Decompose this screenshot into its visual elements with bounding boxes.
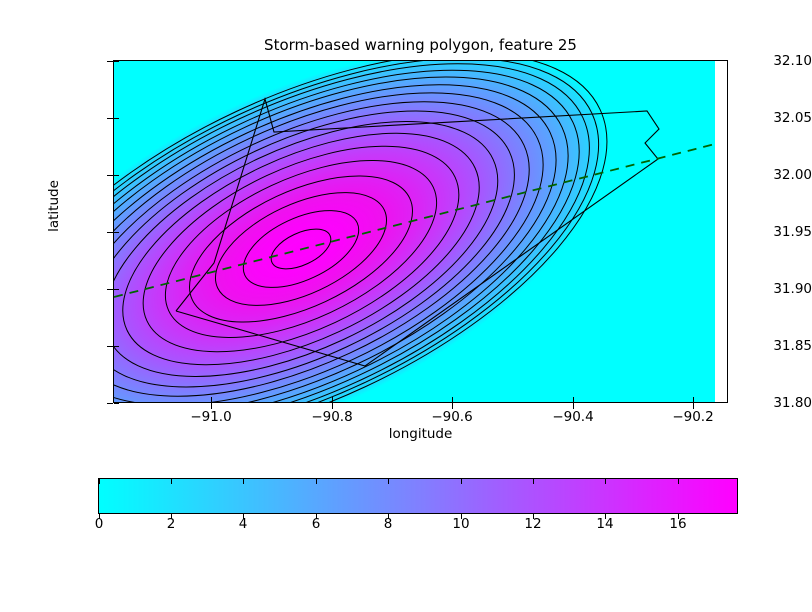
colorbar-tick-top <box>461 479 462 484</box>
colorbar-gradient <box>99 479 737 513</box>
ytick-mark-inner <box>114 403 119 404</box>
plot-content-group <box>114 61 728 403</box>
ytick-mark <box>107 403 113 404</box>
page-title: Storm-based warning polygon, feature 25 <box>113 36 728 54</box>
xtick-label: −91.0 <box>171 410 251 424</box>
colorbar <box>98 478 738 514</box>
ytick-label: 31.80 <box>746 396 812 410</box>
ytick-mark-inner <box>114 232 119 233</box>
colorbar-tick-top <box>678 479 679 484</box>
ytick-label: 31.95 <box>746 225 812 239</box>
colorbar-tick-label: 4 <box>218 516 268 532</box>
colorbar-tick-top <box>99 479 100 484</box>
ytick-mark-inner <box>114 61 119 62</box>
colorbar-tick-top <box>316 479 317 484</box>
ytick-mark <box>107 289 113 290</box>
colorbar-tick-label: 10 <box>436 516 486 532</box>
xtick-label: −90.6 <box>412 410 492 424</box>
colorbar-tick-label: 12 <box>508 516 558 532</box>
ytick-label: 32.10 <box>746 54 812 68</box>
xtick-mark-inner <box>693 397 694 402</box>
colorbar-tick-top <box>533 479 534 484</box>
ytick-label: 31.90 <box>746 282 812 296</box>
colorbar-tick-label: 8 <box>363 516 413 532</box>
ytick-mark-inner <box>114 346 119 347</box>
ytick-mark <box>107 61 113 62</box>
xtick-label: −90.8 <box>292 410 372 424</box>
colorbar-tick-label: 0 <box>74 516 124 532</box>
xtick-mark-inner <box>332 397 333 402</box>
field-right-margin <box>715 61 728 403</box>
ytick-mark <box>107 232 113 233</box>
y-axis-label: latitude <box>46 146 62 266</box>
figure-canvas: Storm-based warning polygon, feature 25 <box>0 0 812 612</box>
x-axis-label: longitude <box>113 426 728 442</box>
ytick-label: 32.05 <box>746 111 812 125</box>
ytick-mark-inner <box>114 118 119 119</box>
colorbar-tick-label: 2 <box>146 516 196 532</box>
ytick-mark <box>107 175 113 176</box>
ytick-label: 31.85 <box>746 339 812 353</box>
xtick-mark-inner <box>211 397 212 402</box>
colorbar-tick-label: 6 <box>291 516 341 532</box>
xtick-mark-inner <box>452 397 453 402</box>
xtick-label: −90.2 <box>653 410 733 424</box>
contour-plot-svg <box>114 61 728 403</box>
colorbar-tick-label: 16 <box>653 516 703 532</box>
colorbar-tick-top <box>605 479 606 484</box>
colorbar-tick-top <box>388 479 389 484</box>
xtick-mark-inner <box>573 397 574 402</box>
ytick-label: 32.00 <box>746 168 812 182</box>
colorbar-tick-top <box>171 479 172 484</box>
xtick-label: −90.4 <box>533 410 613 424</box>
main-plot-axes <box>113 60 728 403</box>
ytick-mark <box>107 118 113 119</box>
colorbar-tick-top <box>243 479 244 484</box>
ytick-mark-inner <box>114 289 119 290</box>
ytick-mark-inner <box>114 175 119 176</box>
colorbar-tick-label: 14 <box>580 516 630 532</box>
ytick-mark <box>107 346 113 347</box>
